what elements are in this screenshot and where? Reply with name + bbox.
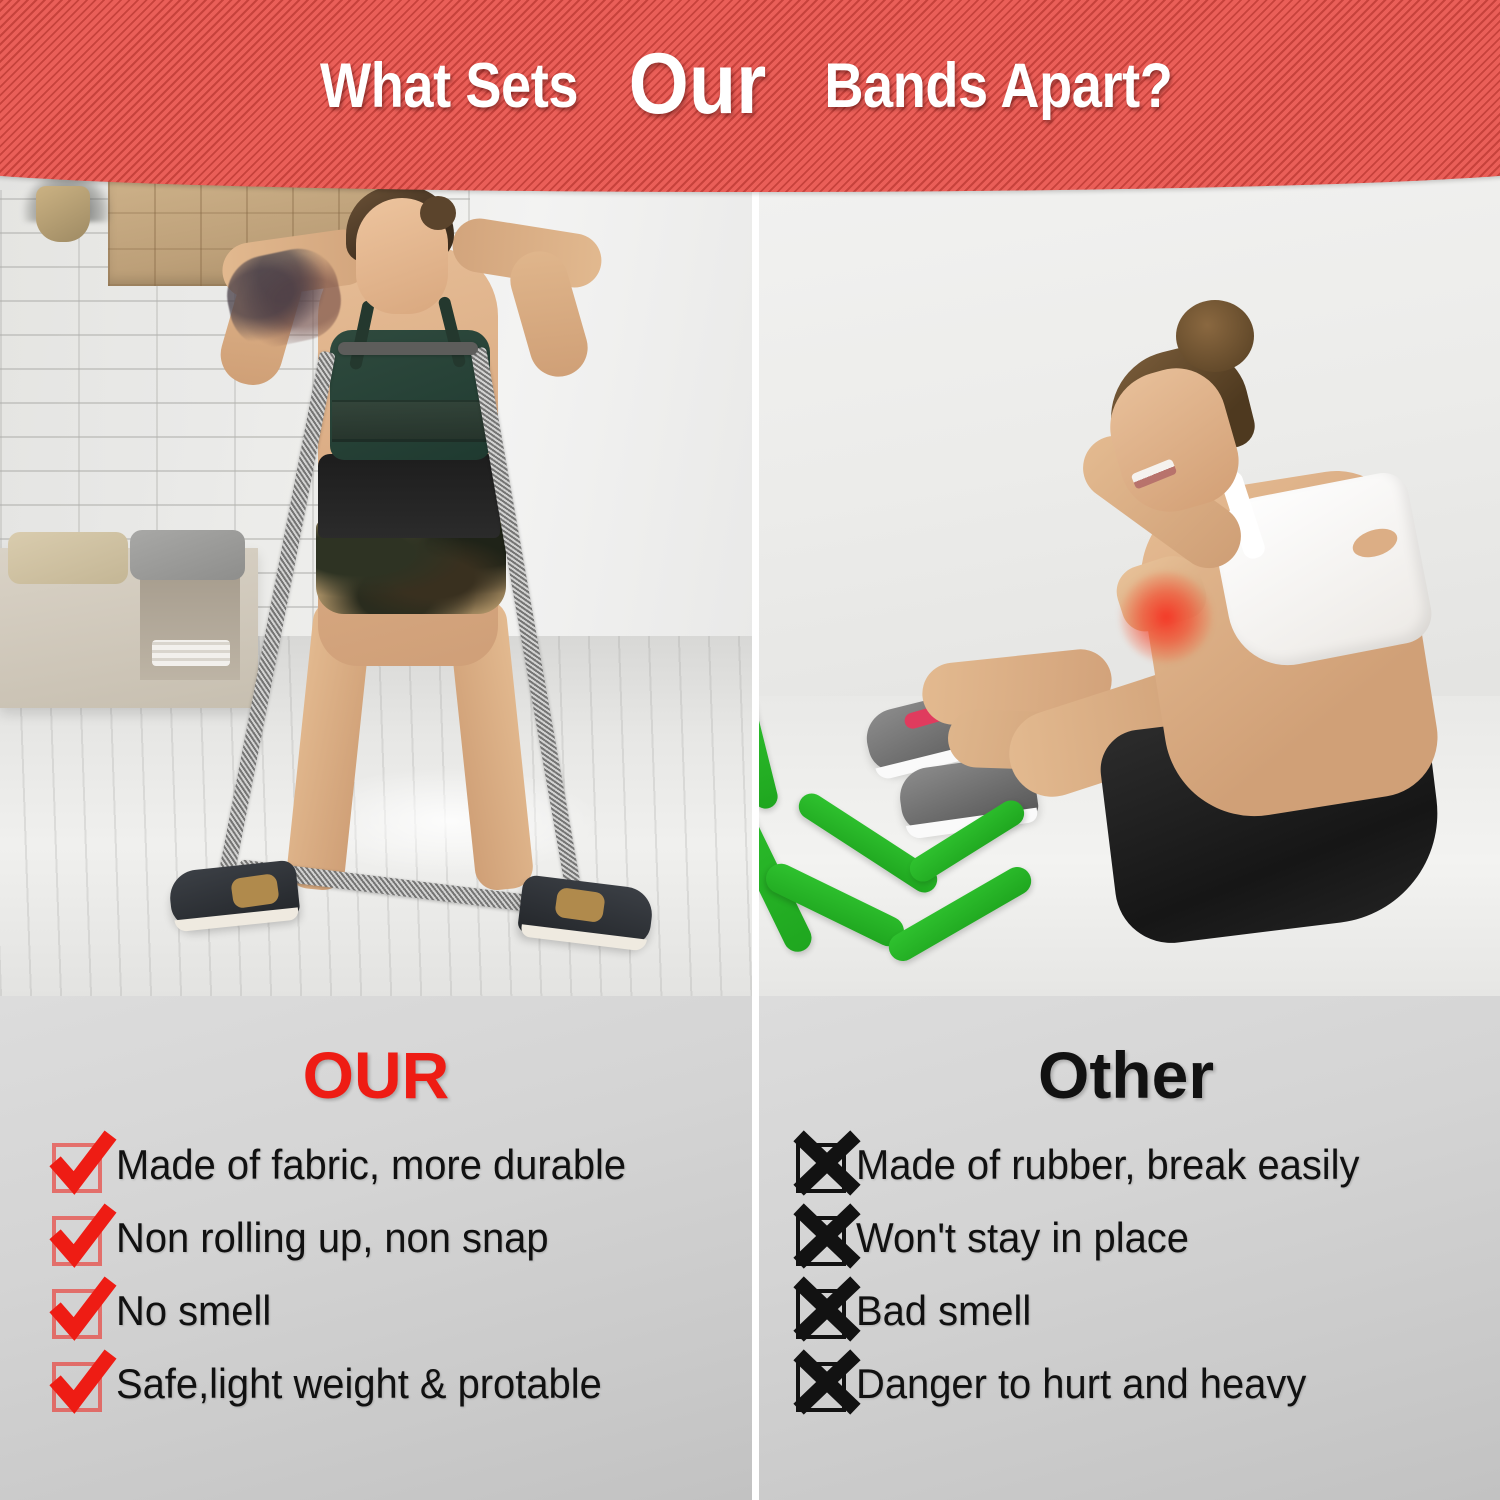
cross-mark-icon [798, 1285, 850, 1337]
list-item: Made of fabric, more durable [52, 1128, 752, 1201]
comparison-section: OUR Made of fabric, more durable [0, 996, 1500, 1500]
hair-bun [420, 196, 456, 230]
list-item-label: No smell [116, 1290, 271, 1332]
comparison-column-our: OUR Made of fabric, more durable [0, 996, 752, 1500]
cross-mark-icon [798, 1358, 850, 1410]
our-heading: OUR [0, 1016, 752, 1114]
infographic-page: What Sets Our Bands Apart? [0, 0, 1500, 1500]
check-mark-icon [52, 1358, 104, 1410]
pain-glow-indicator [1120, 572, 1212, 662]
list-item-label: Made of rubber, break easily [856, 1144, 1359, 1186]
cushion-gray [130, 530, 245, 580]
hair-bun [1176, 300, 1254, 372]
list-item: No smell [52, 1274, 752, 1347]
banner-title-part2: Bands Apart? [824, 50, 1172, 122]
list-item: Won't stay in place [798, 1201, 1500, 1274]
list-item-label: Won't stay in place [856, 1217, 1189, 1259]
other-feature-list: Made of rubber, break easily Won't stay … [752, 1128, 1500, 1420]
list-item: Non rolling up, non snap [52, 1201, 752, 1274]
banner-title-emphasis: Our [629, 35, 767, 134]
list-item-label: Made of fabric, more durable [116, 1144, 626, 1186]
check-mark-icon [52, 1285, 104, 1337]
our-feature-list: Made of fabric, more durable Non rolling… [0, 1128, 752, 1420]
banner-title: What Sets Our Bands Apart? [0, 0, 1500, 172]
list-item-label: Safe,light weight & protable [116, 1363, 602, 1405]
list-item: Safe,light weight & protable [52, 1347, 752, 1420]
cushion-beige [8, 532, 128, 584]
list-item-label: Bad smell [856, 1290, 1031, 1332]
cross-mark-icon [798, 1212, 850, 1264]
check-mark-icon [52, 1139, 104, 1191]
bra-mesh-panel [332, 400, 486, 442]
list-item-label: Non rolling up, non snap [116, 1217, 549, 1259]
other-heading: Other [752, 1016, 1500, 1114]
comparison-column-other: Other Made of rubber, break easily [752, 996, 1500, 1500]
check-mark-icon [52, 1212, 104, 1264]
comparison-divider [752, 996, 759, 1500]
banner-title-part1: What Sets [320, 50, 578, 122]
list-item: Danger to hurt and heavy [798, 1347, 1500, 1420]
cross-mark-icon [798, 1139, 850, 1191]
list-item: Made of rubber, break easily [798, 1128, 1500, 1201]
black-waistband [318, 454, 500, 538]
fabric-band-grip [338, 342, 478, 355]
header-banner: What Sets Our Bands Apart? [0, 0, 1500, 200]
stacked-plates [152, 640, 230, 666]
list-item: Bad smell [798, 1274, 1500, 1347]
list-item-label: Danger to hurt and heavy [856, 1363, 1306, 1405]
